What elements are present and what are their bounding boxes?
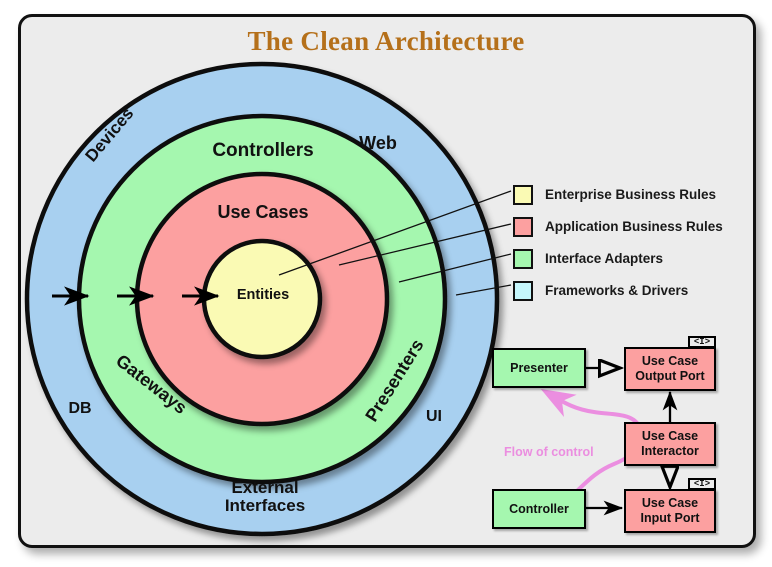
interface-tag-output-port: <I> — [688, 336, 716, 348]
flow-box-use-case-input-port[interactable]: Use Case Input Port — [624, 489, 716, 533]
flow-label-output-port: Use Case Output Port — [635, 354, 704, 384]
interactor-line2: Interactor — [641, 444, 699, 458]
flow-box-presenter[interactable]: Presenter — [492, 348, 586, 388]
input-port-line1: Use Case — [642, 496, 698, 510]
interface-tag-input-port: <I> — [688, 478, 716, 490]
flow-label-input-port: Use Case Input Port — [640, 496, 699, 526]
clean-architecture-diagram: The Clean Architecture — [0, 0, 772, 567]
flow-label-presenter: Presenter — [510, 361, 568, 376]
input-port-line2: Input Port — [640, 511, 699, 525]
flow-label-controller: Controller — [509, 502, 569, 517]
flow-connectors-layer — [0, 0, 772, 567]
flow-label-interactor: Use Case Interactor — [641, 429, 699, 459]
flow-box-use-case-interactor[interactable]: Use Case Interactor — [624, 422, 716, 466]
flow-of-control-label: Flow of control — [504, 445, 594, 459]
interactor-line1: Use Case — [642, 429, 698, 443]
output-port-line2: Output Port — [635, 369, 704, 383]
flow-box-use-case-output-port[interactable]: Use Case Output Port — [624, 347, 716, 391]
flow-box-controller[interactable]: Controller — [492, 489, 586, 529]
output-port-line1: Use Case — [642, 354, 698, 368]
